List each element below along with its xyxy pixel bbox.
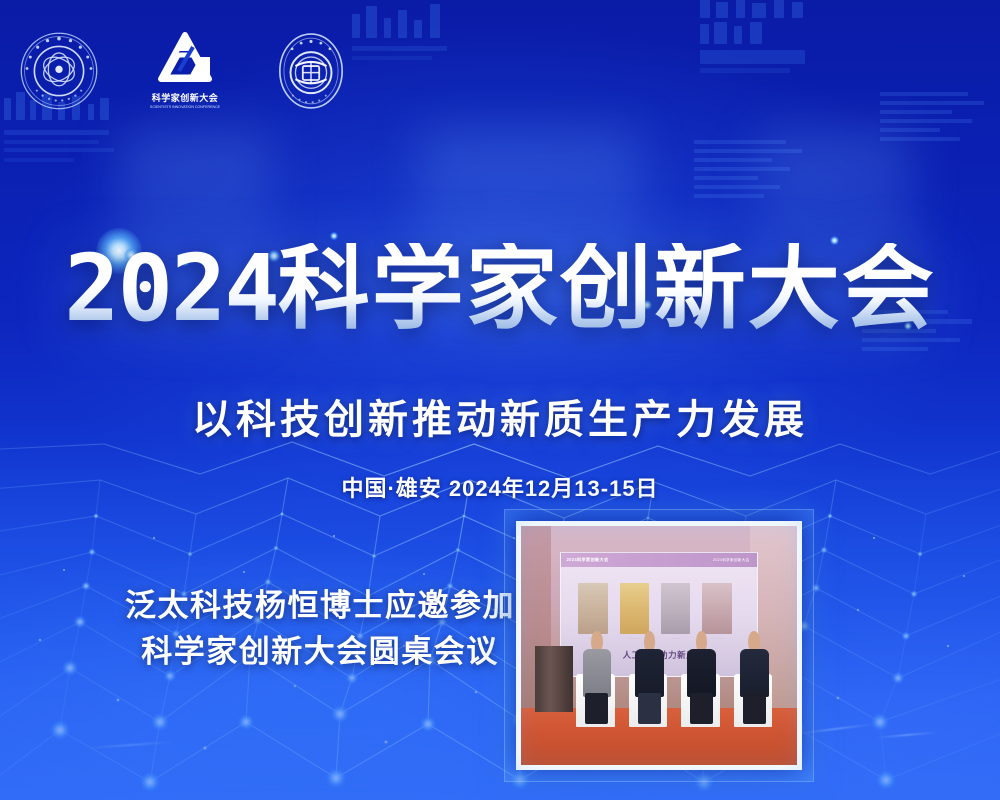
photo-portrait-2 bbox=[620, 583, 650, 634]
photo-panelist-4-body bbox=[740, 649, 769, 696]
photo-panelist-2-legs bbox=[638, 693, 661, 724]
photo-portrait-1 bbox=[578, 583, 608, 634]
photo-panelist-1-legs bbox=[585, 693, 608, 724]
photo-panelist-4 bbox=[736, 631, 772, 722]
triangle-icon bbox=[153, 31, 217, 89]
triangle-emblem-caption: 科学家创新大会 bbox=[152, 91, 219, 104]
event-photo: 2024科学家创新大会 2024科学家创新大会 ··· ······ ··· ·… bbox=[516, 521, 802, 770]
conference-poster: 科学家创新大会 SCIENTISTS INNOVATION CONFERENCE bbox=[0, 0, 1000, 800]
seal-icon bbox=[18, 30, 100, 112]
photo-panelist-1 bbox=[579, 631, 615, 722]
photo-podium bbox=[535, 646, 574, 713]
oval-seal-icon bbox=[270, 30, 352, 112]
caption-line-2: 科学家创新大会圆桌会议 bbox=[120, 630, 520, 674]
title-year: 2024 bbox=[64, 235, 278, 342]
photo-panelist-4-legs bbox=[743, 693, 766, 724]
photo-portrait-3 bbox=[661, 583, 691, 634]
circular-seal-right-logo bbox=[270, 30, 352, 117]
photo-backdrop-title: 2024科学家创新大会 bbox=[567, 553, 609, 566]
city-pattern-top-center bbox=[352, 0, 512, 80]
photo-panelist-3 bbox=[684, 631, 720, 722]
logo-row: 科学家创新大会 SCIENTISTS INNOVATION CONFERENCE bbox=[18, 30, 352, 117]
photo-panelist-2-body bbox=[635, 649, 664, 696]
page-title: 2024科学家创新大会 bbox=[0, 243, 1000, 335]
photo-backdrop-title-right: 2024科学家创新大会 bbox=[713, 553, 749, 566]
caption-line-1: 泛太科技杨恒博士应邀参加 bbox=[120, 584, 520, 628]
title-text: 科学家创新大会 bbox=[278, 235, 936, 342]
subtitle: 以科技创新推动新质生产力发展 bbox=[0, 387, 1000, 445]
caption-block: 泛太科技杨恒博士应邀参加 科学家创新大会圆桌会议 bbox=[120, 584, 520, 674]
event-meta-line: 中国·雄安 2024年12月13-15日 bbox=[0, 471, 1000, 503]
photo-panelist-3-body bbox=[687, 649, 716, 696]
triangle-emblem-subcaption: SCIENTISTS INNOVATION CONFERENCE bbox=[150, 105, 220, 109]
photo-panelist-3-legs bbox=[690, 693, 713, 724]
event-photo-inner: 2024科学家创新大会 2024科学家创新大会 ··· ······ ··· ·… bbox=[521, 526, 797, 765]
photo-panelist-1-body bbox=[583, 649, 612, 696]
triangle-emblem-logo: 科学家创新大会 SCIENTISTS INNOVATION CONFERENCE bbox=[142, 31, 228, 117]
circular-seal-left-logo bbox=[18, 30, 100, 117]
photo-panelist-2 bbox=[631, 631, 667, 722]
photo-portrait-4 bbox=[702, 583, 732, 634]
